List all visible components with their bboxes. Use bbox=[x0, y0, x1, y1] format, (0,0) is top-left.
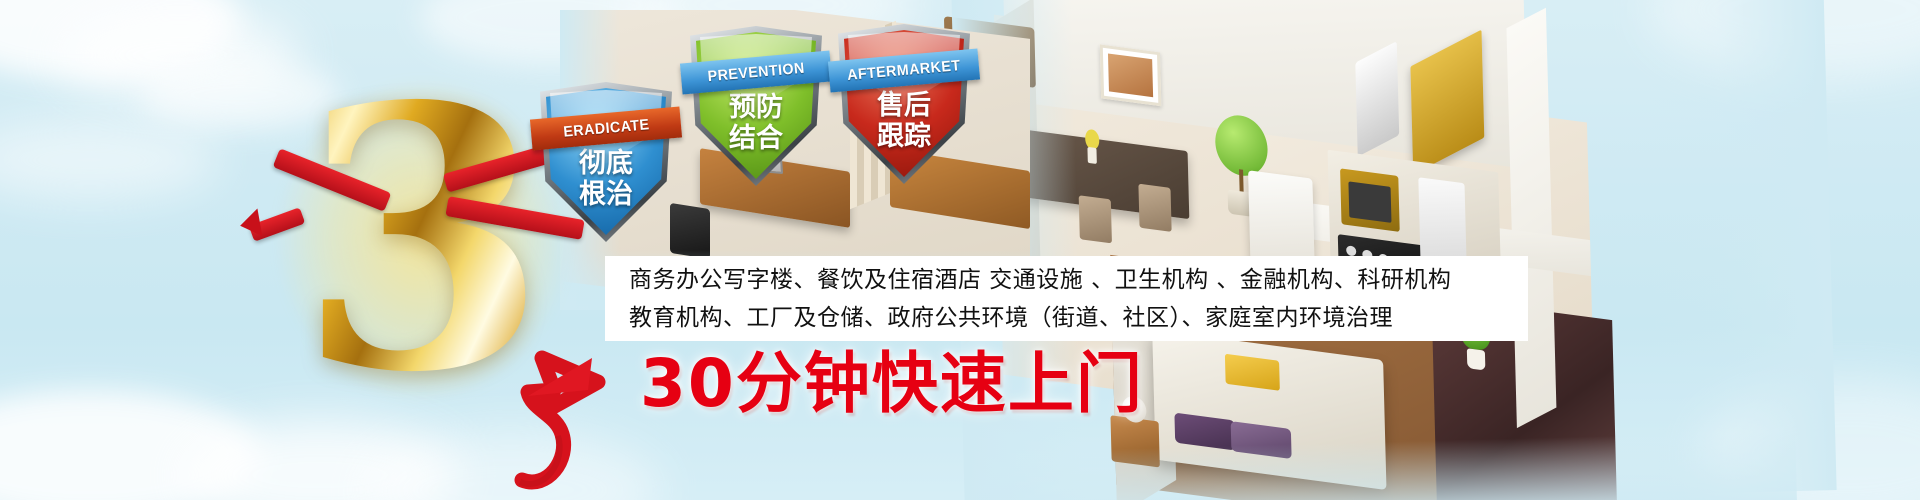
shield-badge-eradicate: 彻底 根治 ERADICATE bbox=[540, 82, 672, 242]
shield-chinese-text: 彻底 根治 bbox=[540, 148, 672, 210]
oven bbox=[1340, 168, 1400, 232]
shield-chinese-line1: 预防 bbox=[690, 92, 822, 123]
shield-chinese-text: 预防 结合 bbox=[690, 92, 822, 154]
dining-chair bbox=[1079, 195, 1112, 243]
wall-art bbox=[1100, 44, 1162, 106]
service-scope-panel: 商务办公写字楼、餐饮及住宿酒店 交通设施 、卫生机构 、金融机构、科研机构 教育… bbox=[605, 256, 1528, 341]
shield-chinese-line1: 彻底 bbox=[540, 148, 672, 179]
shield-badge-prevention: 预防 结合 PREVENTION bbox=[690, 26, 822, 186]
service-scope-line-2: 教育机构、工厂及仓储、政府公共环境（街道、社区）、家庭室内环境治理 bbox=[629, 299, 1528, 337]
shield-chinese-line2: 结合 bbox=[690, 123, 822, 154]
headline-text: 30分钟快速上门 bbox=[640, 348, 1144, 420]
shield-chinese-line2: 跟踪 bbox=[838, 121, 970, 152]
table-centerpiece bbox=[1079, 128, 1104, 167]
shield-english-label: ERADICATE bbox=[562, 116, 649, 140]
shield-badge-aftermarket: 售后 跟踪 AFTERMARKET bbox=[838, 24, 970, 184]
dining-chair bbox=[1138, 184, 1171, 232]
apartment-interior-illustration bbox=[953, 0, 1796, 500]
shield-english-label: AFTERMARKET bbox=[847, 57, 962, 84]
shield-chinese-line1: 售后 bbox=[838, 90, 970, 121]
shield-chinese-text: 售后 跟踪 bbox=[838, 90, 970, 152]
promo-banner: 3 彻底 根治 ERADICATE 预防 结合 PREVENTION bbox=[0, 0, 1920, 500]
shield-chinese-line2: 根治 bbox=[540, 179, 672, 210]
service-scope-line-1: 商务办公写字楼、餐饮及住宿酒店 交通设施 、卫生机构 、金融机构、科研机构 bbox=[629, 261, 1528, 299]
shield-english-label: PREVENTION bbox=[707, 60, 806, 85]
